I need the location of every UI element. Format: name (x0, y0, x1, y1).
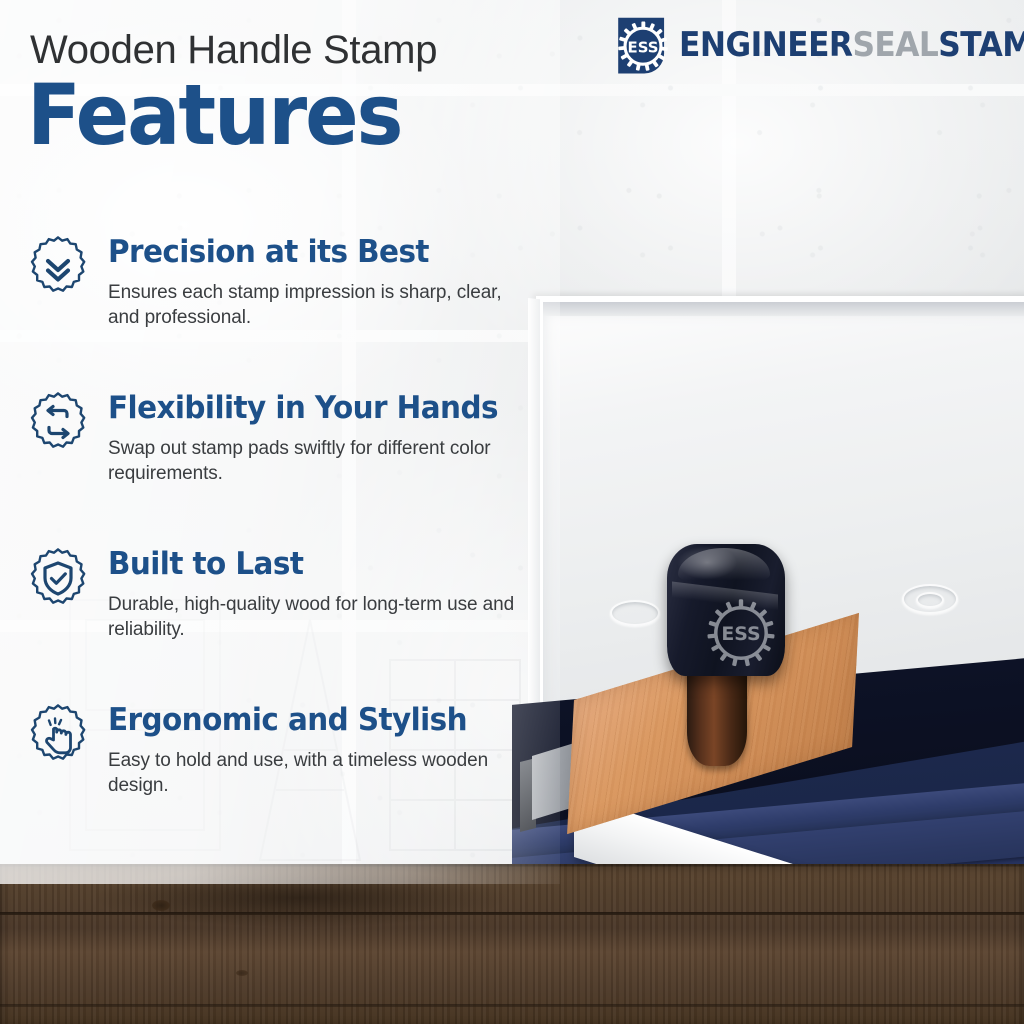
wood-knot-1 (152, 900, 170, 911)
infographic-canvas: ESS Wooden Handle Stamp Features (0, 0, 1024, 1024)
ess-gear-badge-icon: ESS (612, 14, 674, 76)
feature-title: Ergonomic and Stylish (108, 702, 467, 738)
wood-table-surface (0, 864, 1024, 1024)
brand-word-stamps: STAMPS (938, 25, 1024, 65)
handle-ess-gear-icon: ESS (706, 598, 776, 668)
case-lid-top-edge (543, 302, 1024, 316)
double-chevron-down-badge-icon (24, 234, 92, 302)
feature-description: Swap out stamp pads swiftly for differen… (108, 436, 538, 486)
brand-logo[interactable]: ESS ENGINEER SEAL STAMPS .COM (612, 14, 1014, 76)
feature-item: Flexibility in Your Hands Swap out stamp… (0, 388, 560, 544)
feature-title: Precision at its Best (108, 234, 429, 270)
handle-logo-text: ESS (721, 623, 760, 645)
brand-word-engineer: ENGINEER (679, 25, 852, 65)
brand-wordmark: ENGINEER SEAL STAMPS (679, 25, 1024, 65)
feature-description: Durable, high-quality wood for long-term… (108, 592, 538, 642)
feature-item: Ergonomic and Stylish Easy to hold and u… (0, 700, 560, 856)
feature-title: Built to Last (108, 546, 303, 582)
wood-plank-seam-2 (0, 1004, 1024, 1007)
swap-arrows-badge-icon (24, 390, 92, 458)
feature-item: Built to Last Durable, high-quality wood… (0, 544, 560, 700)
wood-plank-seam-1 (0, 912, 1024, 915)
shield-check-badge-icon (24, 546, 92, 614)
feature-description: Ensures each stamp impression is sharp, … (108, 280, 538, 330)
page-title: Features (27, 76, 401, 156)
feature-item: Precision at its Best Ensures each stamp… (0, 232, 560, 388)
wood-knot-2 (236, 970, 248, 976)
case-lid-emboss-left (610, 600, 660, 626)
feature-title: Flexibility in Your Hands (108, 390, 498, 426)
feature-description: Easy to hold and use, with a timeless wo… (108, 748, 538, 798)
pointing-hand-badge-icon (24, 702, 92, 770)
case-lid-emboss-right-inner (916, 592, 944, 608)
features-list: Precision at its Best Ensures each stamp… (0, 232, 560, 856)
logo-mark-text: ESS (628, 38, 659, 56)
brand-word-seal: SEAL (852, 25, 938, 65)
